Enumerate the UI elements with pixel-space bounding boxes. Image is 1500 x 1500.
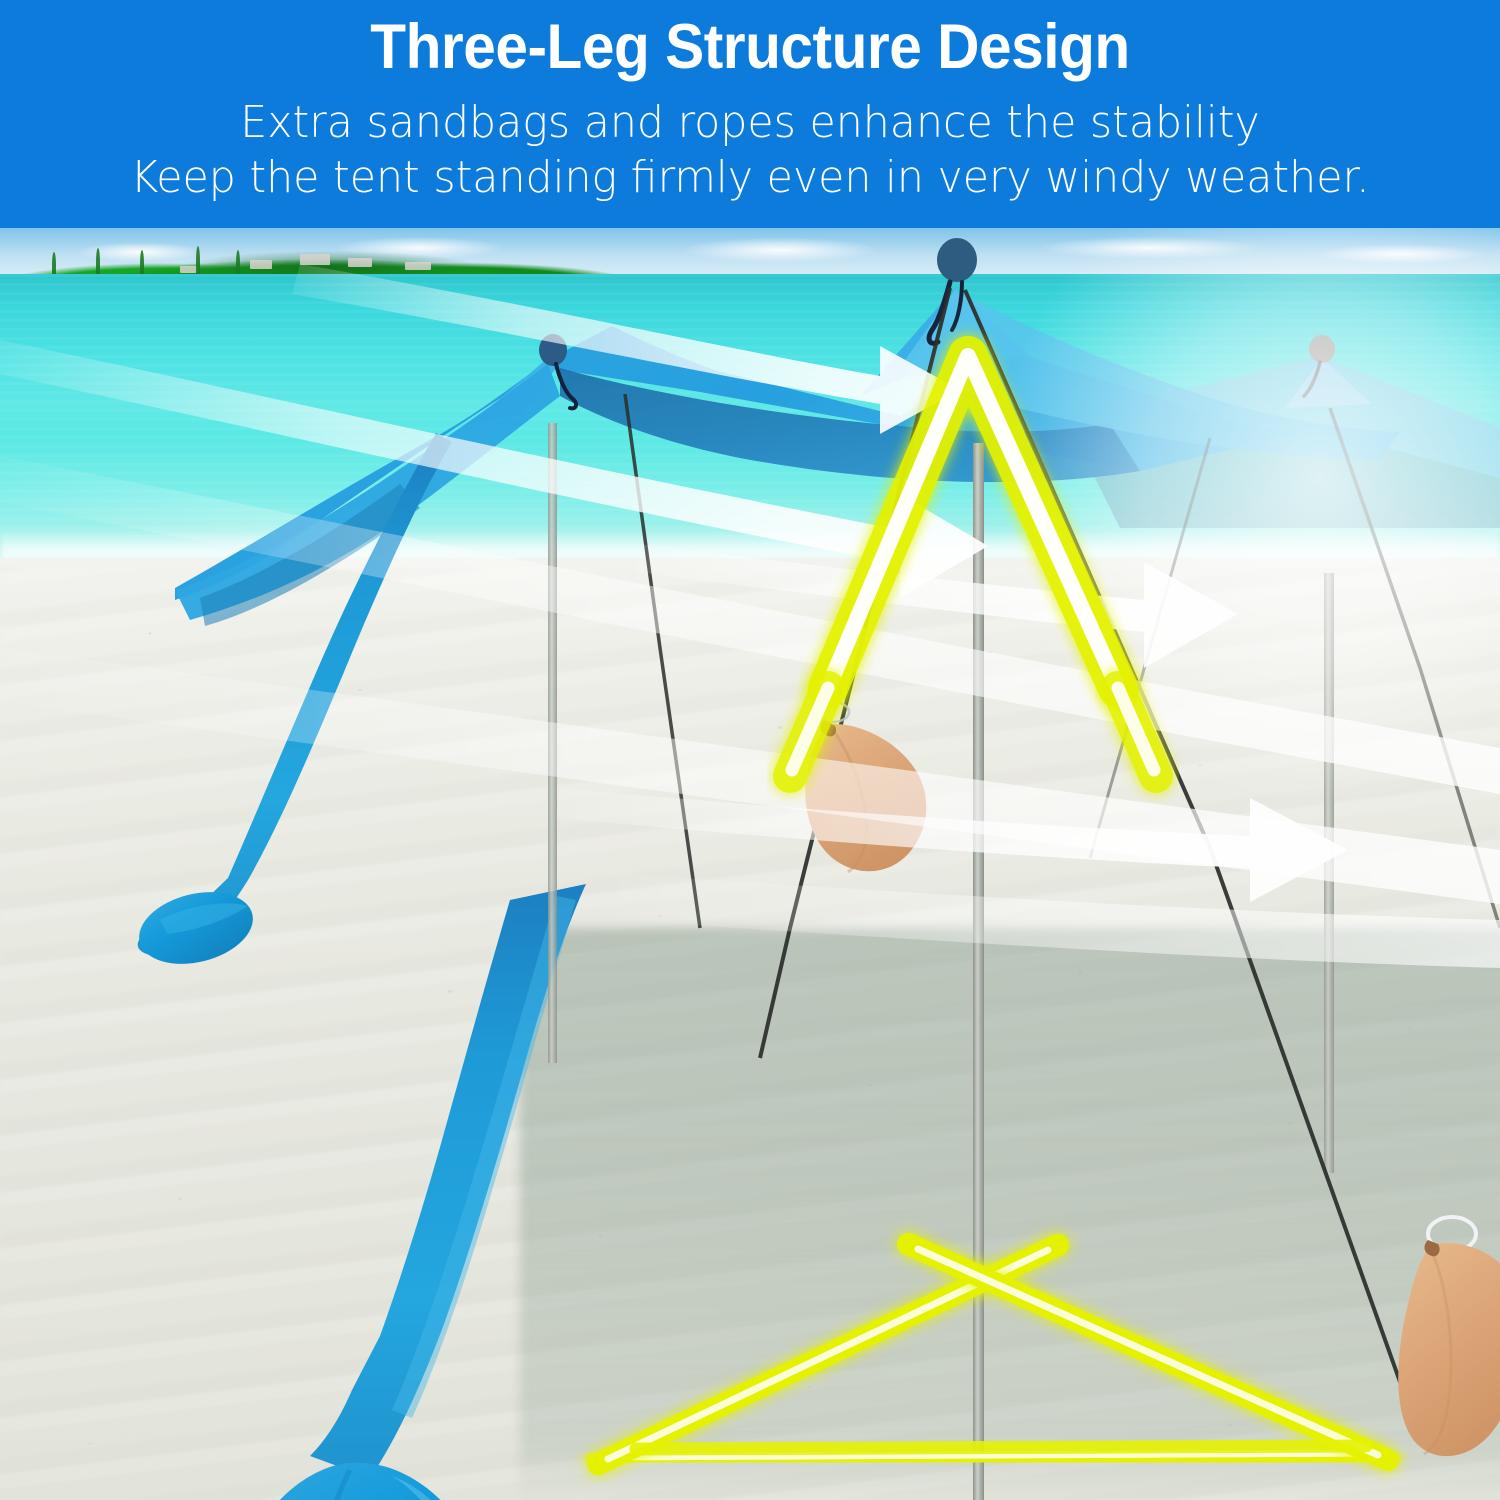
beach-scene-photo (0, 228, 1500, 1500)
yellow-highlight-overlay (0, 228, 1500, 1500)
product-feature-image: Three-Leg Structure Design Extra sandbag… (0, 0, 1500, 1500)
three-leg-footprint-highlight (598, 1244, 1388, 1464)
a-frame-structure-highlight-glow (828, 356, 1118, 688)
banner-subtitle-line-1: Extra sandbags and ropes enhance the sta… (23, 97, 1478, 148)
page-title: Three-Leg Structure Design (53, 14, 1448, 80)
header-banner: Three-Leg Structure Design Extra sandbag… (0, 0, 1500, 228)
banner-subtitle-line-2: Keep the tent standing firmly even in ve… (23, 152, 1478, 203)
